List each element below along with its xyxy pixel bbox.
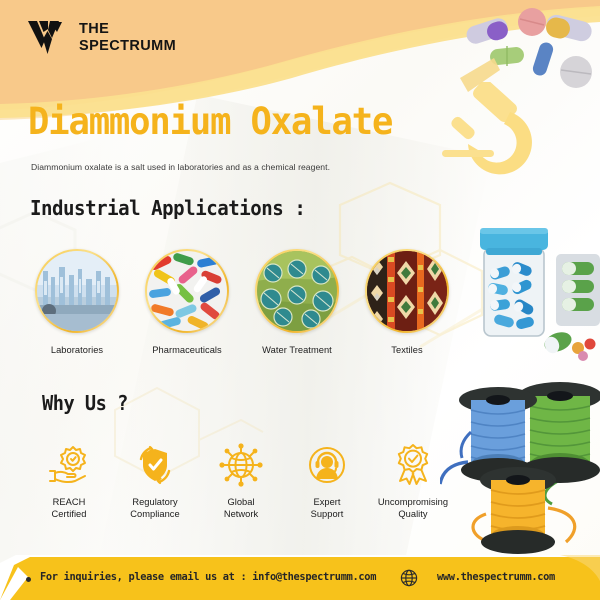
textile-pattern-photo — [367, 251, 447, 331]
footer-bullet-dot — [26, 577, 31, 582]
brand-name-line2: SPECTRUMM — [79, 38, 176, 54]
water-treatment-plant-photo — [257, 251, 337, 331]
feature-item-uncompromising-quality[interactable]: UncompromisingQuality — [370, 443, 456, 539]
feature-label: RegulatoryCompliance — [130, 496, 179, 521]
application-label: Textiles — [391, 345, 422, 355]
page-subtitle: Diammonium oxalate is a salt used in lab… — [31, 162, 330, 172]
globe-network-icon — [219, 443, 263, 487]
laboratory-glassware-photo — [37, 251, 117, 331]
application-item-pharmaceuticals[interactable]: Pharmaceuticals — [132, 249, 242, 364]
feature-item-reach-certified[interactable]: REACHCertified — [26, 443, 112, 539]
applications-heading: Industrial Applications : — [30, 196, 305, 220]
thread-spools-illustration — [440, 362, 600, 562]
application-image-ring — [35, 249, 119, 333]
application-image-ring — [365, 249, 449, 333]
feature-item-regulatory-compliance[interactable]: RegulatoryCompliance — [112, 443, 198, 539]
feature-label: REACHCertified — [52, 496, 87, 521]
page-title: Diammonium Oxalate — [28, 100, 392, 143]
application-item-textiles[interactable]: Textiles — [352, 249, 462, 364]
why-us-list: REACHCertified RegulatoryCompliance — [26, 443, 456, 539]
hand-holding-badge-icon — [47, 443, 91, 487]
feature-label: GlobalNetwork — [224, 496, 258, 521]
scattered-pills-illustration — [460, 0, 600, 100]
headset-agent-icon — [305, 443, 349, 487]
feature-item-global-network[interactable]: GlobalNetwork — [198, 443, 284, 539]
shield-check-icon — [133, 443, 177, 487]
footer-email-text[interactable]: For inquiries, please email us at : info… — [40, 570, 376, 583]
award-ribbon-icon — [391, 443, 435, 487]
applications-list: Laboratories — [22, 249, 462, 364]
feature-item-expert-support[interactable]: ExpertSupport — [284, 443, 370, 539]
why-us-heading: Why Us ? — [42, 391, 128, 415]
application-item-water-treatment[interactable]: Water Treatment — [242, 249, 352, 364]
footer-bar: For inquiries, please email us at : info… — [0, 555, 600, 600]
feature-label: ExpertSupport — [311, 496, 344, 521]
feature-label: UncompromisingQuality — [378, 496, 448, 521]
brand-logo[interactable]: THE SPECTRUMM — [26, 18, 176, 58]
infographic-poster: THE SPECTRUMM Diammonium Oxalate Diammon… — [0, 0, 600, 600]
application-label: Laboratories — [51, 345, 103, 355]
application-label: Pharmaceuticals — [152, 345, 221, 355]
footer-website-link[interactable]: www.thespectrumm.com — [437, 570, 555, 583]
brand-name-line1: THE — [79, 21, 109, 37]
application-image-ring — [255, 249, 339, 333]
brand-name: THE SPECTRUMM — [79, 21, 176, 55]
application-label: Water Treatment — [262, 345, 332, 355]
spectrumm-w-mark-icon — [26, 18, 70, 58]
application-item-laboratories[interactable]: Laboratories — [22, 249, 132, 364]
application-image-ring — [145, 249, 229, 333]
globe-icon — [400, 569, 418, 587]
colorful-pills-photo — [147, 251, 227, 331]
pill-jar-illustration — [470, 222, 600, 362]
